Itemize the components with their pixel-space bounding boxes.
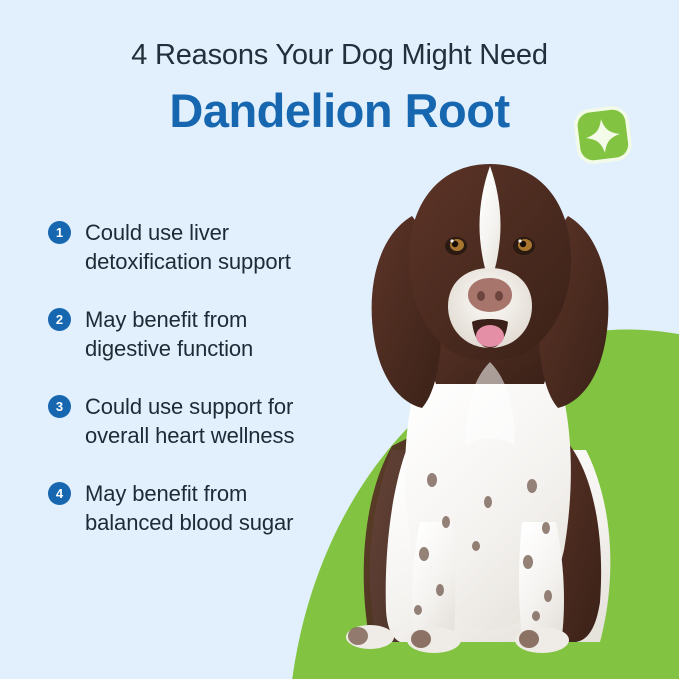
infographic-card: 4 Reasons Your Dog Might Need Dandelion … [0,0,679,679]
list-item-line1: Could use support for [85,394,293,419]
list-item-line1: May benefit from [85,307,247,332]
list-item-number: 2 [48,308,71,331]
list-item-line1: May benefit from [85,481,247,506]
subheadline: 4 Reasons Your Dog Might Need [0,38,679,72]
list-item-number: 4 [48,482,71,505]
list-item-number: 3 [48,395,71,418]
list-item-number: 1 [48,221,71,244]
dog-photo [300,150,679,679]
list-item-line1: Could use liver [85,220,229,245]
